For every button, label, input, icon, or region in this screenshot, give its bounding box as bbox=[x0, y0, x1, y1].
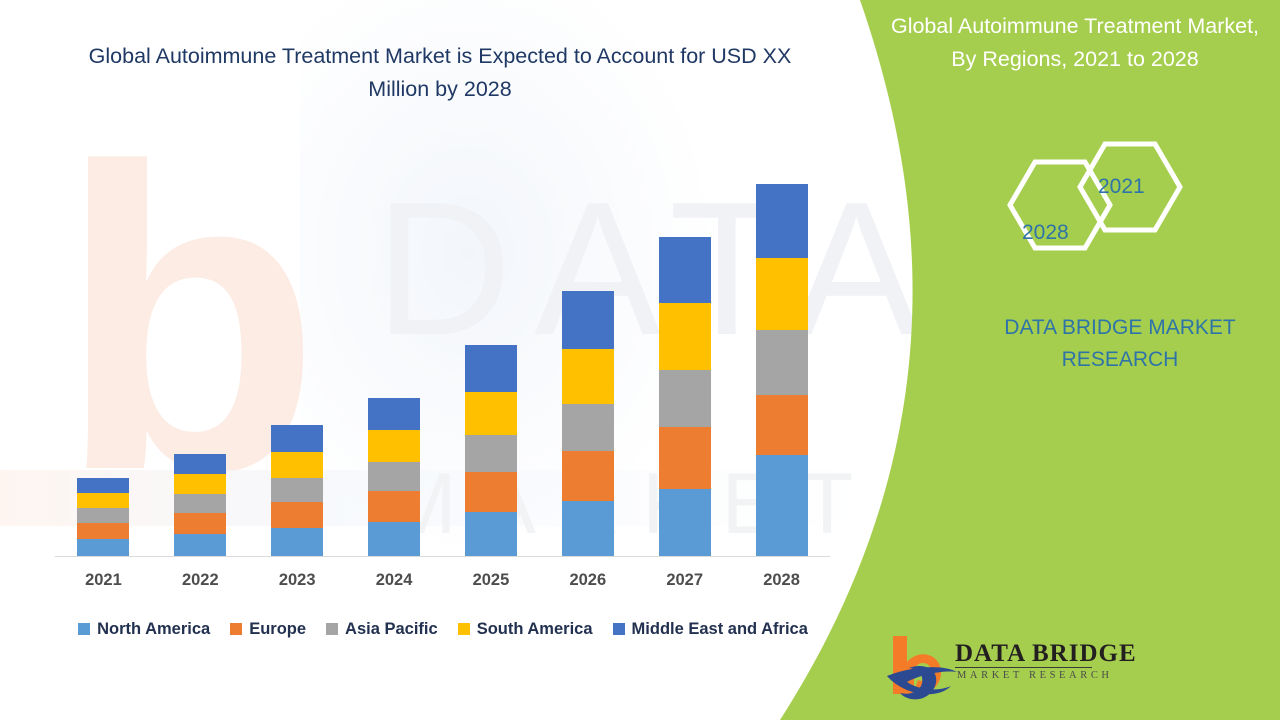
legend-label: South America bbox=[477, 620, 593, 639]
bar-segment bbox=[659, 427, 711, 489]
stacked-bar bbox=[271, 425, 323, 556]
bar-segment bbox=[271, 425, 323, 452]
slide-canvas: b DATA MARKET RESEARCH Global Autoimmune… bbox=[0, 0, 1280, 720]
bar-column-2025 bbox=[443, 150, 539, 556]
legend-swatch-icon bbox=[458, 623, 470, 635]
brand-line-2: RESEARCH bbox=[960, 344, 1280, 376]
bar-segment bbox=[271, 528, 323, 556]
bar-segment bbox=[562, 291, 614, 349]
legend-swatch-icon bbox=[78, 623, 90, 635]
bar-segment bbox=[77, 478, 129, 493]
x-axis-tick-2022: 2022 bbox=[152, 571, 248, 590]
stacked-bar bbox=[562, 291, 614, 556]
bar-segment bbox=[174, 494, 226, 513]
brand-text: DATA BRIDGE MARKET RESEARCH bbox=[960, 312, 1280, 376]
logo-tagline: MARKET RESEARCH bbox=[957, 670, 1113, 681]
x-axis-tick-2021: 2021 bbox=[55, 571, 151, 590]
legend-swatch-icon bbox=[230, 623, 242, 635]
x-axis-line bbox=[55, 556, 830, 557]
bar-column-2022 bbox=[152, 150, 248, 556]
brand-line-1: DATA BRIDGE MARKET bbox=[960, 312, 1280, 344]
bar-segment bbox=[174, 513, 226, 534]
bar-segment bbox=[368, 430, 420, 462]
stacked-bar bbox=[465, 345, 517, 556]
bar-segment bbox=[562, 404, 614, 451]
bar-column-2026 bbox=[540, 150, 636, 556]
hexagon-graphic bbox=[980, 130, 1200, 280]
bar-segment bbox=[77, 523, 129, 539]
chart-title: Global Autoimmune Treatment Market is Ex… bbox=[70, 40, 810, 106]
bar-segment bbox=[659, 237, 711, 303]
stacked-bar bbox=[368, 398, 420, 556]
bar-segment bbox=[465, 472, 517, 512]
bar-segment bbox=[271, 452, 323, 478]
stacked-bar bbox=[659, 237, 711, 556]
x-axis-tick-2025: 2025 bbox=[443, 571, 539, 590]
legend-swatch-icon bbox=[613, 623, 625, 635]
stacked-bar-chart bbox=[55, 150, 830, 556]
x-axis-tick-2027: 2027 bbox=[637, 571, 733, 590]
bar-segment bbox=[465, 392, 517, 435]
bar-segment bbox=[465, 345, 517, 392]
logo-name: DATA BRIDGE bbox=[955, 640, 1137, 668]
legend-item[interactable]: South America bbox=[458, 620, 593, 639]
bar-segment bbox=[174, 534, 226, 556]
bar-segment bbox=[659, 370, 711, 427]
bar-segment bbox=[174, 474, 226, 494]
panel-title: Global Autoimmune Treatment Market, By R… bbox=[880, 10, 1270, 76]
legend-label: Asia Pacific bbox=[345, 620, 438, 639]
bar-segment bbox=[659, 303, 711, 370]
bar-segment bbox=[368, 522, 420, 556]
legend-swatch-icon bbox=[326, 623, 338, 635]
bar-segment bbox=[77, 493, 129, 508]
bar-segment bbox=[368, 462, 420, 491]
hexagon-2021-label: 2021 bbox=[1098, 175, 1145, 199]
bar-segment bbox=[77, 539, 129, 556]
bar-segment bbox=[562, 451, 614, 501]
x-axis-tick-2024: 2024 bbox=[346, 571, 442, 590]
bar-segment bbox=[271, 478, 323, 502]
bar-column-2023 bbox=[249, 150, 345, 556]
bar-segment bbox=[174, 454, 226, 474]
bar-segment bbox=[562, 501, 614, 556]
bar-segment bbox=[659, 489, 711, 556]
chart-legend: North AmericaEuropeAsia PacificSouth Ame… bbox=[48, 616, 838, 642]
legend-item[interactable]: North America bbox=[78, 620, 210, 639]
legend-item[interactable]: Middle East and Africa bbox=[613, 620, 808, 639]
legend-item[interactable]: Europe bbox=[230, 620, 306, 639]
bar-segment bbox=[368, 398, 420, 430]
stacked-bar bbox=[77, 478, 129, 556]
x-axis-tick-2023: 2023 bbox=[249, 571, 345, 590]
bar-column-2021 bbox=[55, 150, 151, 556]
legend-label: Europe bbox=[249, 620, 306, 639]
x-axis-tick-2026: 2026 bbox=[540, 571, 636, 590]
bar-column-2024 bbox=[346, 150, 442, 556]
legend-item[interactable]: Asia Pacific bbox=[326, 620, 438, 639]
bar-segment bbox=[465, 435, 517, 472]
bar-segment bbox=[368, 491, 420, 522]
bar-segment bbox=[562, 349, 614, 404]
bar-column-2027 bbox=[637, 150, 733, 556]
hexagon-2028-label: 2028 bbox=[1022, 221, 1069, 245]
bar-segment bbox=[271, 502, 323, 528]
bar-segment bbox=[77, 508, 129, 523]
bar-segment bbox=[465, 512, 517, 556]
x-axis-labels: 20212022202320242025202620272028 bbox=[55, 566, 830, 594]
legend-label: North America bbox=[97, 620, 210, 639]
logo-divider bbox=[955, 667, 1092, 668]
stacked-bar bbox=[174, 454, 226, 556]
